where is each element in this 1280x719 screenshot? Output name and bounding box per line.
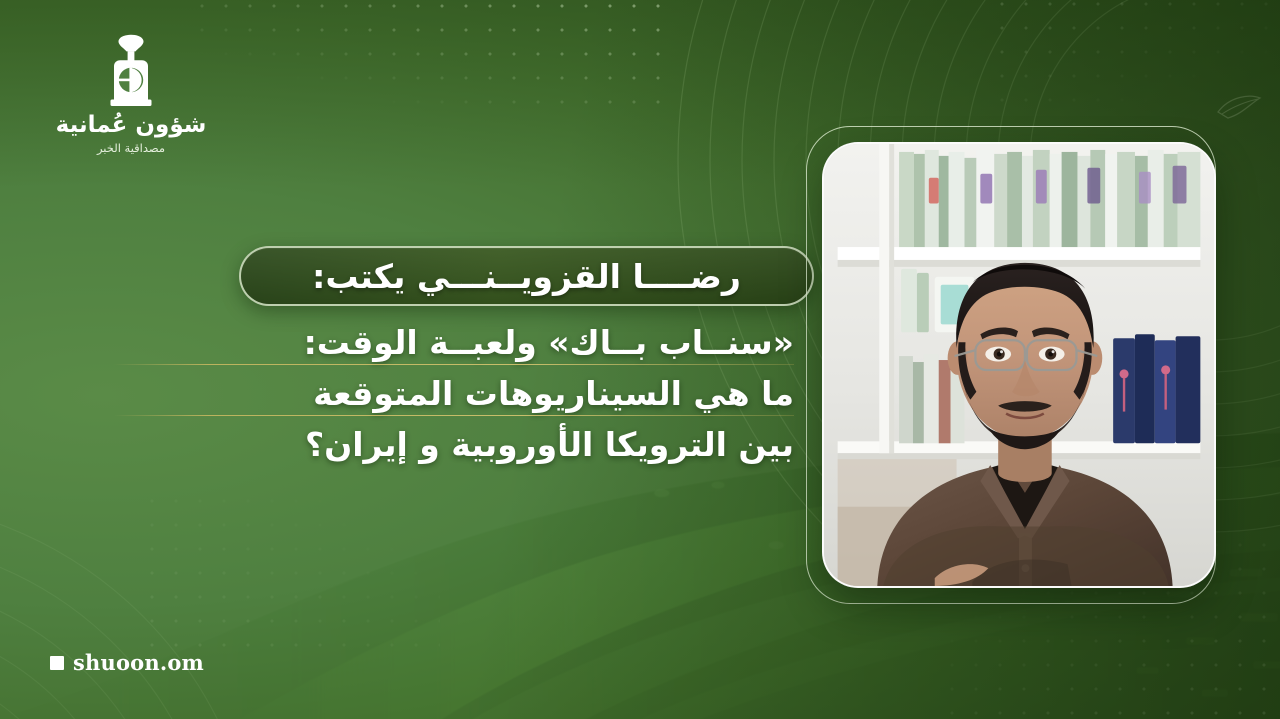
headline-block: رضــــا القزويــنـــي يكتب: «سنــاب بــا… [114, 246, 794, 469]
dot-grid-pattern-top-right [990, 0, 1280, 112]
brand-name: شؤون عُمانية [56, 112, 207, 138]
social-card: شؤون عُمانية مصداقية الخبر رضــــا القزو… [0, 0, 1280, 719]
byline-badge: رضــــا القزويــنـــي يكتب: [239, 246, 814, 306]
brand-logo[interactable]: شؤون عُمانية مصداقية الخبر [46, 34, 216, 156]
dot-grid-pattern-bottom-left [140, 489, 440, 649]
portrait-photo [822, 142, 1216, 588]
portrait-photo-container [806, 126, 1216, 604]
byline-text: رضــــا القزويــنـــي يكتب: [312, 260, 741, 293]
website-label[interactable]: shuoon.om [50, 652, 204, 673]
article-title: «سنــاب بــاك» ولعبــة الوقت: ما هي السي… [114, 322, 794, 469]
title-line-2: ما هي السيناريوهات المتوقعة [114, 373, 794, 418]
title-line-3: بين الترويكا الأوروبية و إيران؟ [114, 424, 794, 469]
website-url-text: shuoon.om [73, 652, 204, 673]
leaf-icon [1216, 92, 1262, 122]
incense-burner-mabkhara-icon [98, 34, 164, 108]
title-line-1: «سنــاب بــاك» ولعبــة الوقت: [114, 322, 794, 367]
dot-grid-pattern-top [190, 0, 660, 124]
brand-tagline: مصداقية الخبر [97, 142, 165, 156]
square-bullet-icon [50, 656, 64, 670]
